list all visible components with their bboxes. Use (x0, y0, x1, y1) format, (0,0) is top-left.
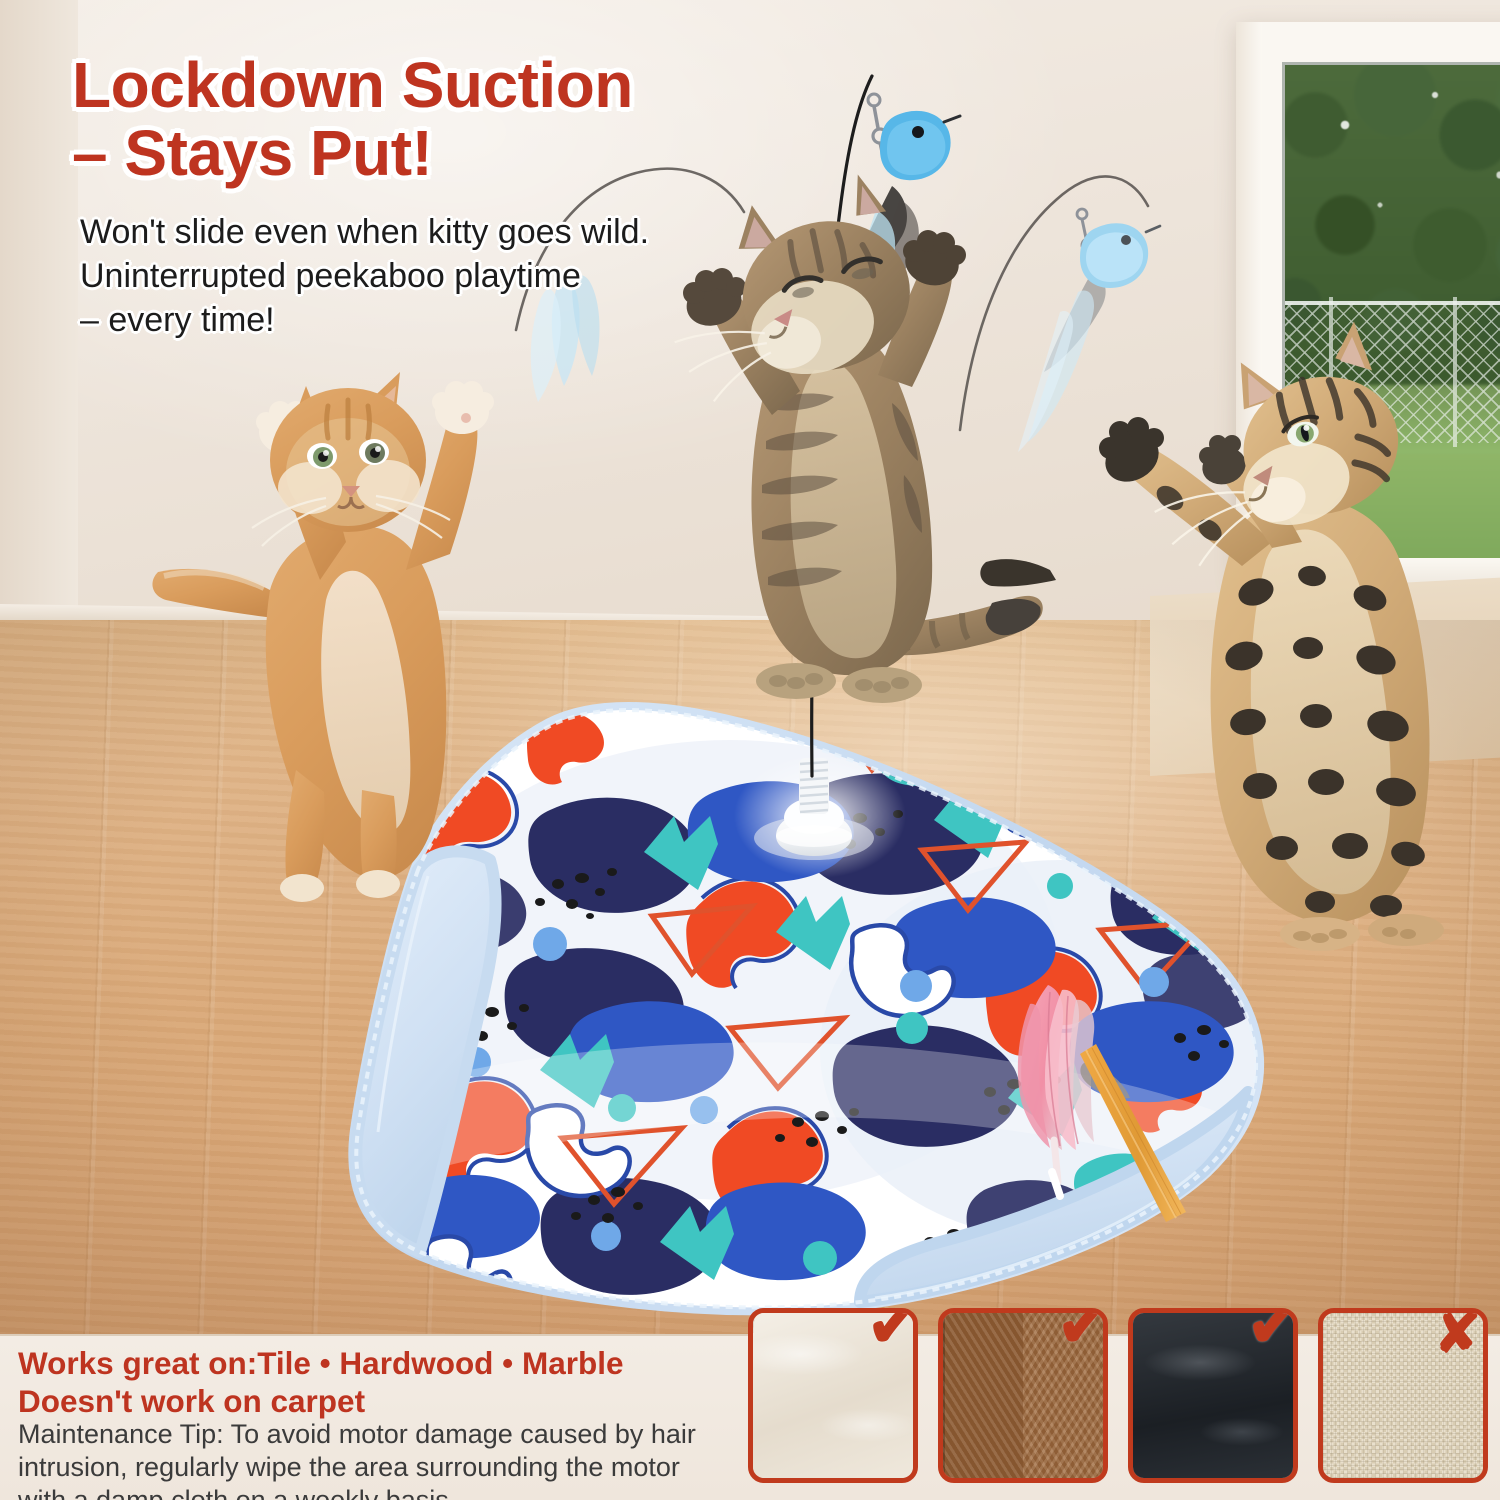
check-icon-hardwood: ✔ (1057, 1308, 1108, 1357)
surface-compatibility-headline: Works great on:Tile • Hardwood • Marble … (18, 1345, 718, 1421)
subhead-line-2: Uninterrupted peekaboo playtime (80, 254, 720, 298)
check-icon-marble: ✔ (1247, 1308, 1298, 1357)
kitten-paw-right (432, 381, 494, 434)
swatch-light-marble-tile[interactable]: ✔ (748, 1308, 918, 1483)
headline-line-2: – Stays Put! (72, 120, 832, 188)
swatch-hardwood-herringbone[interactable]: ✔ (938, 1308, 1108, 1483)
swatch-dark-marble[interactable]: ✔ (1128, 1308, 1298, 1483)
kitten-hind-paw-left (280, 874, 324, 902)
bengal-tail-tip (980, 559, 1056, 586)
page-subheadline: Won't slide even when kitty goes wild. U… (80, 210, 720, 343)
bengal-cat-reaching (1020, 330, 1500, 980)
subhead-line-3: – every time! (80, 298, 720, 342)
wall-corner (0, 0, 78, 640)
tabby-paw-right (900, 230, 966, 291)
headline-line-1: Lockdown Suction (72, 49, 633, 121)
cross-icon-carpet: ✘ (1434, 1308, 1481, 1361)
works-great-on-line: Works great on:Tile • Hardwood • Marble (18, 1345, 718, 1383)
check-icon-tile: ✔ (867, 1308, 918, 1357)
motor-bulge-highlight (734, 754, 906, 878)
surface-swatch-row: ✔ ✔ ✔ ✘ (748, 1308, 1492, 1486)
orange-tabby-kitten-leaping (150, 350, 570, 920)
bengal-hind-paws (1280, 914, 1444, 951)
kitten-hind-paw-right (356, 870, 400, 898)
subhead-line-1: Won't slide even when kitty goes wild. (80, 210, 720, 254)
doesnt-work-line: Doesn't work on carpet (18, 1383, 718, 1421)
maintenance-tip-text: Maintenance Tip: To avoid motor damage c… (18, 1418, 708, 1500)
product-marketing-image: Lockdown Suction – Stays Put! Won't slid… (0, 0, 1500, 1500)
swatch-carpet[interactable]: ✘ (1318, 1308, 1488, 1483)
page-headline: Lockdown Suction – Stays Put! (72, 52, 832, 188)
